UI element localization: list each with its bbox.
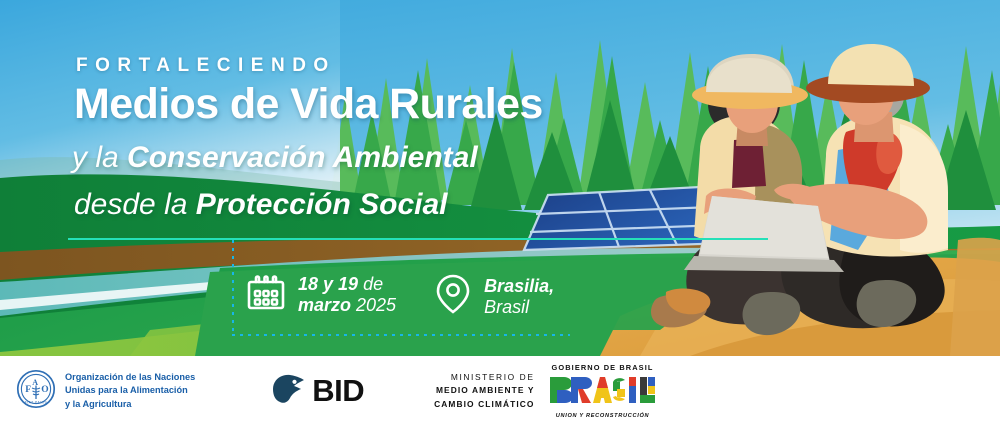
fao-name-line3: y la Agricultura xyxy=(65,398,195,411)
calendar-icon xyxy=(246,272,286,317)
bid-emblem-icon xyxy=(270,372,308,411)
fao-name: Organización de las Naciones Unidas para… xyxy=(65,371,195,411)
event-date: 18 y 19 de marzo 2025 xyxy=(246,272,396,317)
gov-top-label: GOBIERNO DE BRASIL xyxy=(549,363,657,372)
fao-name-line1: Organización de las Naciones xyxy=(65,371,195,384)
ministry-line2: MEDIO AMBIENTE Y xyxy=(434,384,534,397)
bid-wordmark: BID xyxy=(312,373,364,409)
banner-title-line1: Medios de Vida Rurales xyxy=(74,80,543,129)
svg-text:F: F xyxy=(25,385,31,395)
svg-text:O: O xyxy=(41,385,48,395)
map-pin-icon xyxy=(434,272,472,321)
dotted-rule-vertical xyxy=(232,240,234,336)
fao-emblem-icon: F A O FIAT PANIS xyxy=(16,369,56,414)
title-line2-light: y la xyxy=(72,141,127,174)
title-line2-bold: Conservación Ambiental xyxy=(127,141,478,174)
location-country: Brasil xyxy=(484,297,554,318)
event-date-text: 18 y 19 de marzo 2025 xyxy=(298,274,396,316)
title-line3-light: desde la xyxy=(74,188,196,221)
banner-kicker: FORTALECIENDO xyxy=(76,55,336,77)
date-days: 18 y 19 xyxy=(298,274,358,294)
logo-bid: BID xyxy=(270,372,364,411)
banner-title-line3: desde la Protección Social xyxy=(74,188,448,222)
event-location-text: Brasilia, Brasil xyxy=(484,276,554,318)
location-city: Brasilia, xyxy=(484,276,554,296)
logo-government-brasil: GOBIERNO DE BRASIL xyxy=(549,363,657,419)
ministry-line1: MINISTERIO DE xyxy=(434,371,534,384)
title-line3-bold: Protección Social xyxy=(196,188,448,221)
svg-text:A: A xyxy=(32,378,38,387)
logo-fao: F A O FIAT PANIS Organización de las Nac… xyxy=(16,369,195,414)
event-info-row: 18 y 19 de marzo 2025 Brasilia, Brasil xyxy=(246,272,554,321)
banner-title-line2: y la Conservación Ambiental xyxy=(72,141,478,175)
date-month: marzo xyxy=(298,295,351,315)
sponsor-footer: F A O FIAT PANIS Organización de las Nac… xyxy=(0,356,1000,426)
fao-name-line2: Unidas para la Alimentación xyxy=(65,384,195,397)
date-year: 2025 xyxy=(351,295,396,315)
brasil-wordmark-icon xyxy=(549,393,657,410)
event-location: Brasilia, Brasil xyxy=(434,272,554,321)
accent-rule xyxy=(68,238,768,240)
gov-bottom-label: UNION Y RECONSTRUCCIÓN xyxy=(549,413,657,419)
event-banner: FORTALECIENDO Medios de Vida Rurales y l… xyxy=(0,0,1000,426)
svg-text:FIAT PANIS: FIAT PANIS xyxy=(25,400,48,404)
ministry-line3: CAMBIO CLIMÁTICO xyxy=(434,398,534,411)
dotted-rule-horizontal xyxy=(232,334,570,336)
logo-ministry: MINISTERIO DE MEDIO AMBIENTE Y CAMBIO CL… xyxy=(434,371,534,411)
date-de: de xyxy=(358,274,383,294)
